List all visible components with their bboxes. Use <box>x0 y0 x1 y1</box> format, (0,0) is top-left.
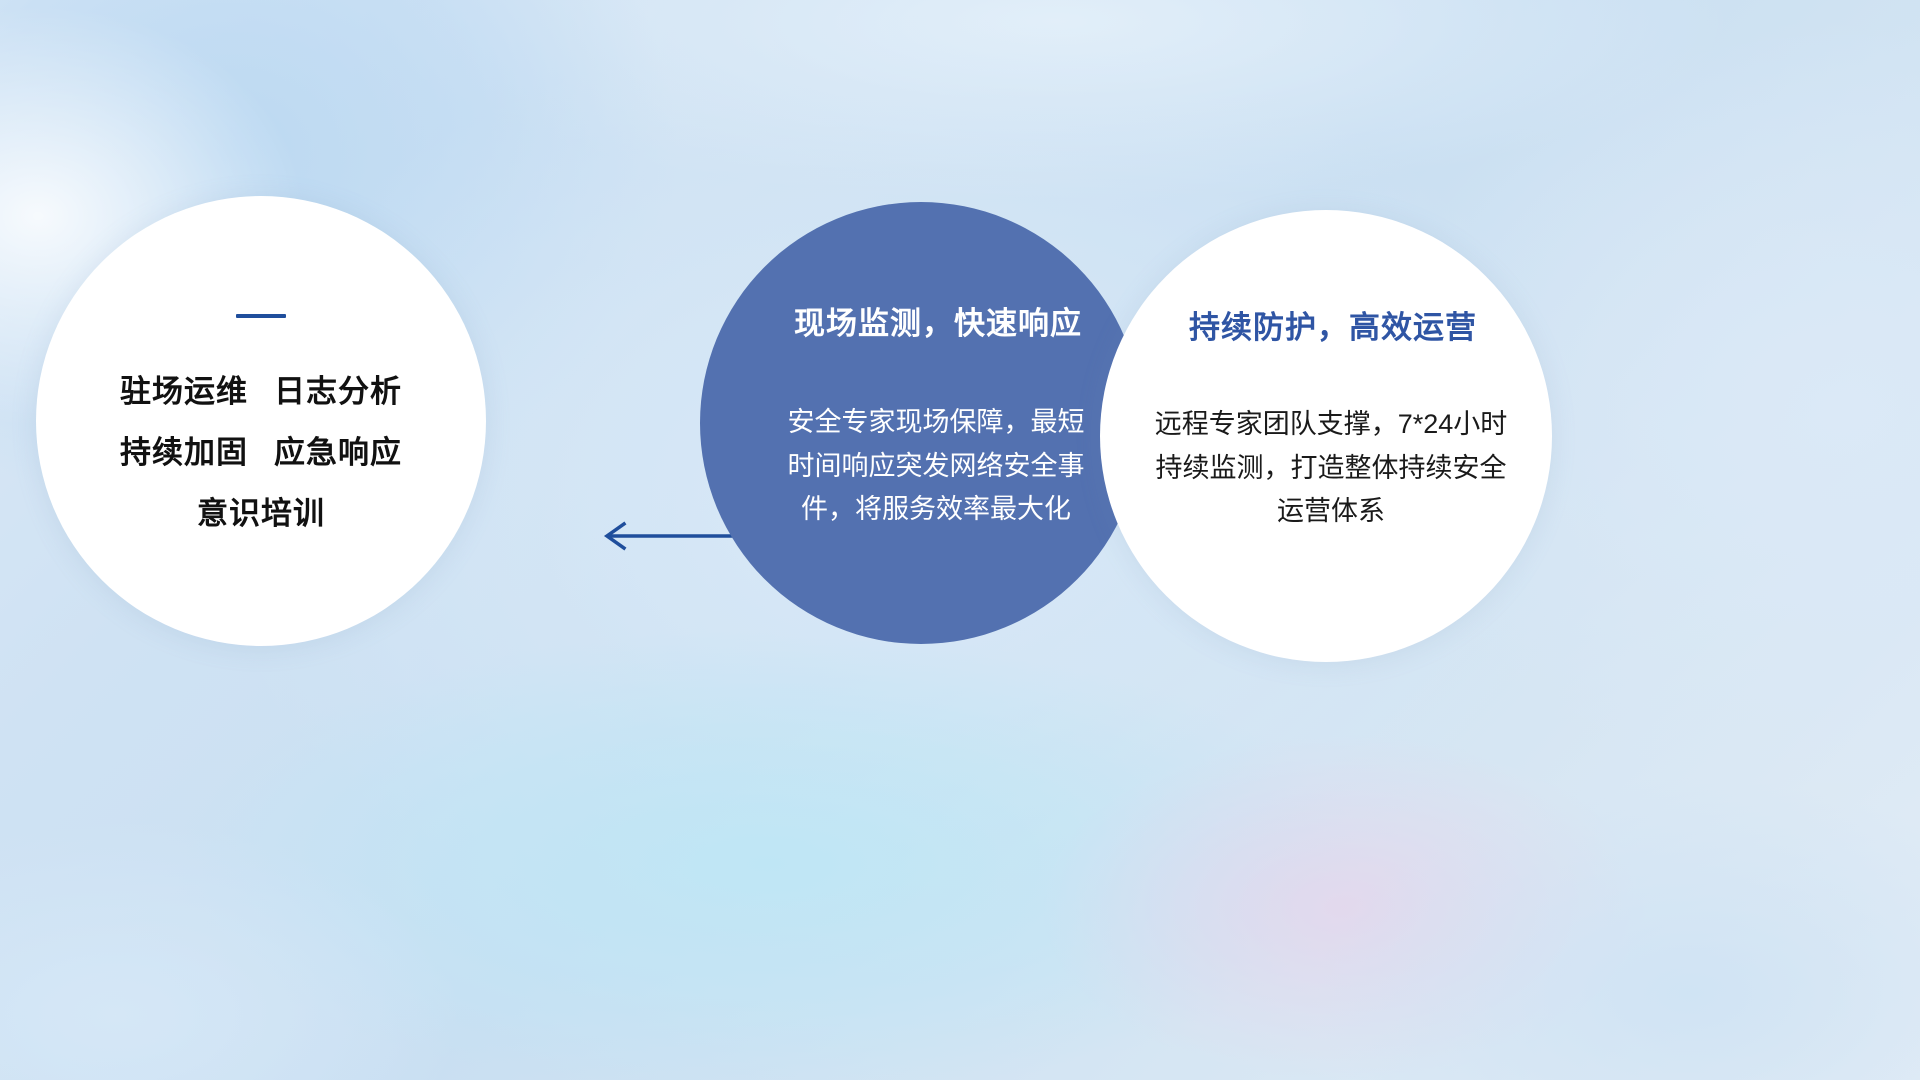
left-keyword-row-1: 驻场运维日志分析 <box>120 376 402 407</box>
left-circle-content: 驻场运维日志分析 持续加固应急响应 意识培训 <box>36 196 486 646</box>
left-keyword-3: 持续加固 <box>120 435 248 470</box>
left-keyword-1: 驻场运维 <box>120 374 248 409</box>
right-circle-title: 持续防护，高效运营 <box>1189 302 1477 347</box>
left-service-circle[interactable]: 驻场运维日志分析 持续加固应急响应 意识培训 <box>36 196 486 646</box>
left-keyword-2: 日志分析 <box>274 374 402 409</box>
middle-circle-body: 安全专家现场保障，最短时间响应突发网络安全事件，将服务效率最大化 <box>777 401 1095 532</box>
left-keyword-4: 应急响应 <box>274 435 402 470</box>
middle-highlight-circle[interactable]: 现场监测，快速响应 安全专家现场保障，最短时间响应突发网络安全事件，将服务效率最… <box>700 202 1142 644</box>
left-keyword-row-3: 意识培训 <box>197 498 325 529</box>
slide-canvas: 驻场运维日志分析 持续加固应急响应 意识培训 现场监测，快速响应 安全专家现场保… <box>0 0 1920 1080</box>
right-circle-content: 持续防护，高效运营 远程专家团队支撑，7*24小时持续监测，打造整体持续安全运营… <box>1100 210 1552 662</box>
middle-circle-content: 现场监测，快速响应 安全专家现场保障，最短时间响应突发网络安全事件，将服务效率最… <box>700 202 1142 644</box>
left-keyword-5: 意识培训 <box>197 496 325 531</box>
middle-circle-title: 现场监测，快速响应 <box>794 298 1082 343</box>
right-highlight-circle[interactable]: 持续防护，高效运营 远程专家团队支撑，7*24小时持续监测，打造整体持续安全运营… <box>1100 210 1552 662</box>
divider-line <box>236 314 286 318</box>
left-keyword-row-2: 持续加固应急响应 <box>120 437 402 468</box>
right-circle-body: 远程专家团队支撑，7*24小时持续监测，打造整体持续安全运营体系 <box>1151 403 1511 534</box>
